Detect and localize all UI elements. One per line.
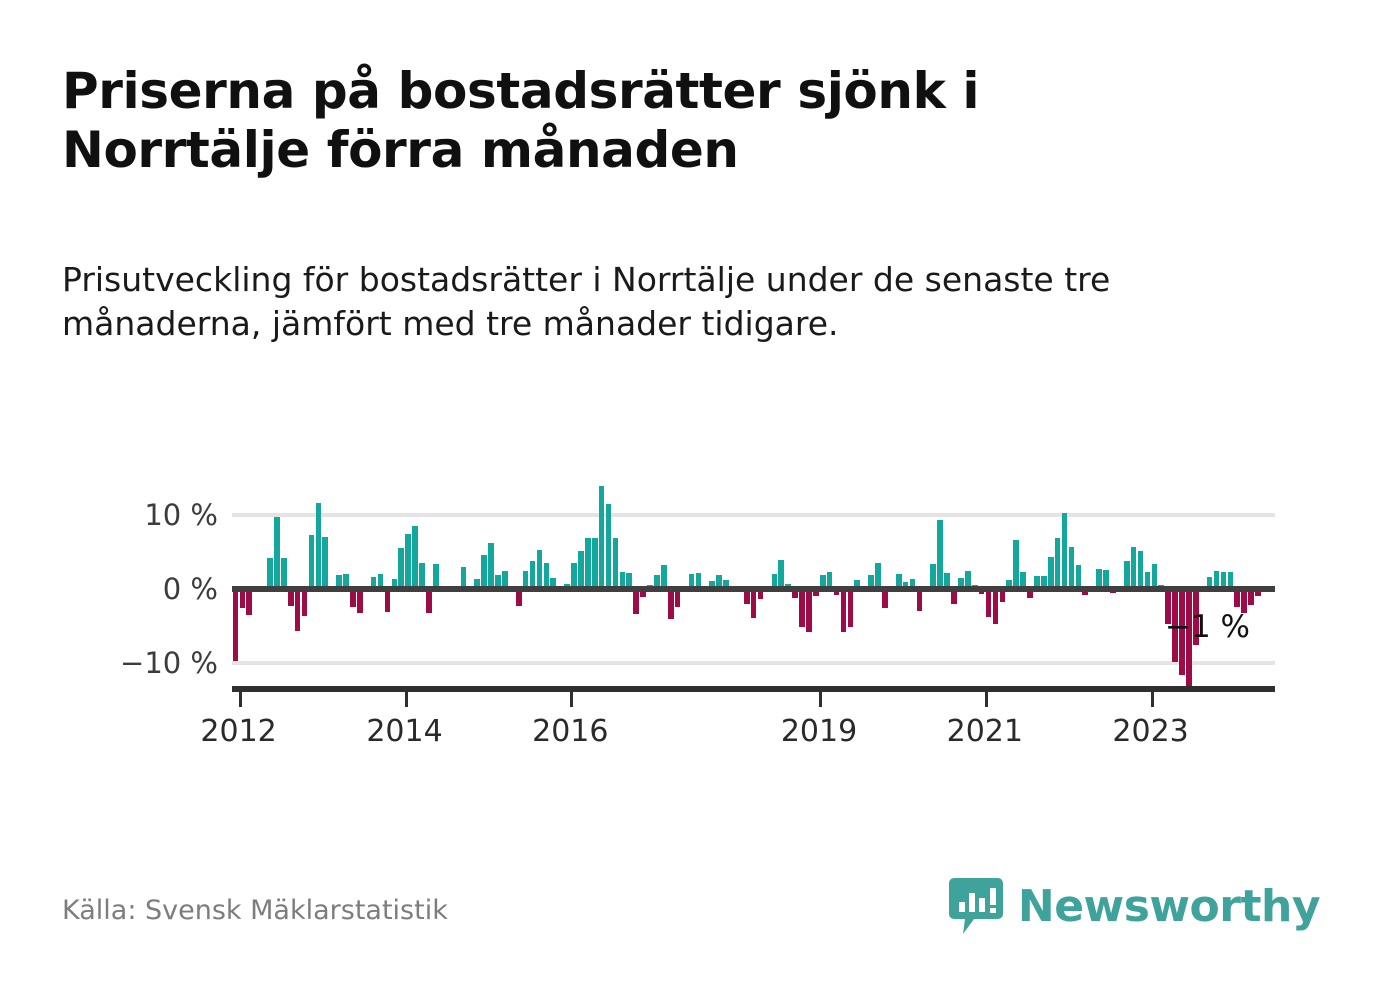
bar	[267, 558, 273, 589]
bar	[1124, 561, 1130, 589]
x-axis-tick	[570, 692, 573, 707]
bar	[599, 486, 605, 589]
bar	[233, 589, 239, 662]
y-axis-tick-label: 0 %	[163, 572, 218, 606]
bar	[1062, 513, 1068, 589]
x-axis-line	[232, 686, 1275, 692]
bar	[986, 589, 992, 617]
infographic-card: Priserna på bostadsrätter sjönk i Norrtä…	[0, 0, 1382, 999]
x-axis-tick-label: 2019	[781, 714, 857, 749]
y-axis-labels: 10 %0 %−10 %	[0, 470, 218, 700]
x-axis-tick	[405, 692, 408, 707]
bar	[668, 589, 674, 619]
bar	[778, 560, 784, 589]
latest-value-annotation: −1 %	[1165, 609, 1250, 645]
bar	[309, 535, 315, 588]
bar	[917, 589, 923, 611]
bar	[537, 550, 543, 589]
bar	[281, 558, 287, 588]
x-axis-tick-label: 2012	[200, 714, 276, 749]
bar	[585, 538, 591, 588]
bar-chart: 10 %0 %−10 % −1 % 2012201420162019202120…	[0, 470, 1382, 770]
x-axis: 201220142016201920212023	[232, 686, 1275, 746]
bar	[246, 589, 252, 615]
bar	[316, 503, 322, 588]
plot-area: −1 %	[232, 470, 1275, 700]
bar	[606, 504, 612, 589]
x-axis-tick	[1151, 692, 1154, 707]
bar	[799, 589, 805, 627]
newsworthy-logo: Newsworthy	[948, 876, 1320, 936]
bar	[274, 517, 280, 588]
source-note: Källa: Svensk Mäklarstatistik	[62, 895, 448, 926]
bar	[530, 561, 536, 589]
page-subtitle: Prisutveckling för bostadsrätter i Norrt…	[62, 258, 1192, 345]
bar	[751, 589, 757, 618]
bar	[993, 589, 999, 625]
bar	[848, 589, 854, 628]
bar	[1048, 557, 1054, 589]
x-axis-tick	[985, 692, 988, 707]
bar	[302, 589, 308, 616]
bar	[1069, 547, 1075, 589]
zero-axis-line	[232, 586, 1275, 592]
bar	[295, 589, 301, 631]
x-axis-tick-label: 2014	[366, 714, 442, 749]
bar	[357, 589, 363, 613]
x-axis-tick	[819, 692, 822, 707]
bar	[613, 538, 619, 589]
bar	[806, 589, 812, 632]
bar	[1055, 538, 1061, 588]
bar	[481, 555, 487, 589]
bar	[633, 589, 639, 614]
bar	[1013, 540, 1019, 588]
x-axis-tick-label: 2023	[1112, 714, 1188, 749]
bar	[426, 589, 432, 613]
bar	[1131, 547, 1137, 589]
bar-chart-speech-bubble-icon	[948, 876, 1004, 936]
bar	[841, 589, 847, 633]
bar	[578, 551, 584, 589]
bar	[412, 526, 418, 588]
y-axis-tick-label: 10 %	[144, 498, 218, 532]
x-axis-tick-label: 2021	[947, 714, 1023, 749]
bar	[937, 520, 943, 588]
bar	[385, 589, 391, 612]
y-axis-tick-label: −10 %	[120, 646, 218, 680]
x-axis-tick	[239, 692, 242, 707]
bar	[322, 537, 328, 589]
page-title: Priserna på bostadsrätter sjönk i Norrtä…	[62, 62, 1242, 180]
x-axis-tick-label: 2016	[532, 714, 608, 749]
bar	[488, 543, 494, 588]
bar	[398, 548, 404, 589]
logo-wordmark: Newsworthy	[1018, 881, 1320, 932]
bar	[1138, 551, 1144, 589]
bar	[405, 534, 411, 589]
bar	[592, 538, 598, 589]
